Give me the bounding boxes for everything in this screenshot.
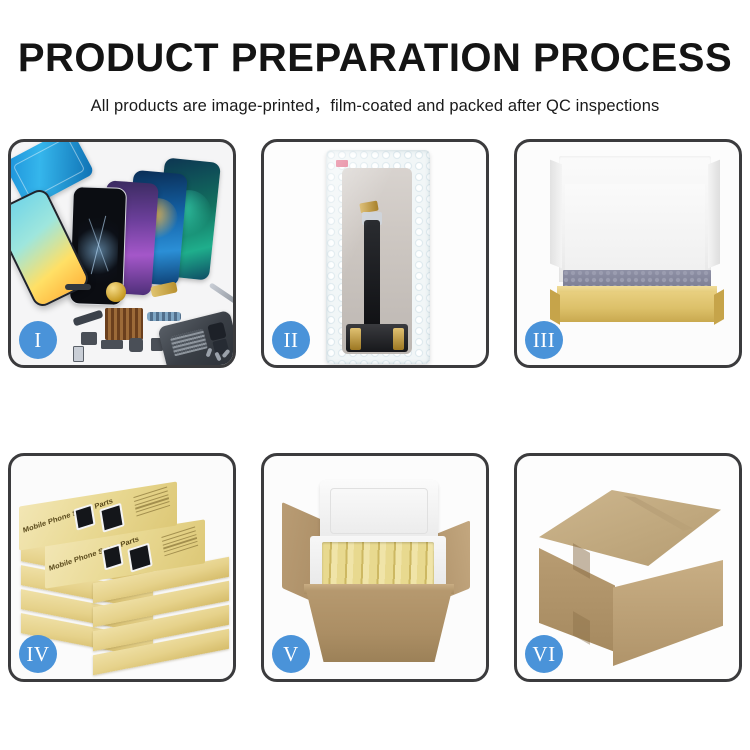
page-title: PRODUCT PREPARATION PROCESS bbox=[0, 38, 750, 78]
part-small-3 bbox=[129, 338, 143, 352]
part-small-5 bbox=[73, 346, 84, 362]
retail-boxes-inside bbox=[322, 542, 434, 590]
part-flex-cable-right bbox=[147, 312, 181, 321]
box-print-screen-b bbox=[99, 503, 124, 533]
step-badge-1: I bbox=[19, 321, 57, 359]
step-badge-3: III bbox=[525, 321, 563, 359]
part-vibrator-motor bbox=[106, 282, 126, 302]
page-subtitle: All products are image-printed，film-coat… bbox=[0, 92, 750, 116]
step-panel-3: III bbox=[514, 139, 742, 368]
part-small-2 bbox=[101, 340, 123, 349]
process-steps-grid: I II bbox=[8, 139, 742, 682]
carton-top-face bbox=[539, 490, 721, 566]
bubble-wrap-bag bbox=[326, 150, 430, 364]
part-repair-tool bbox=[209, 282, 233, 306]
carton-body bbox=[306, 590, 452, 662]
step-panel-4: Mobile Phone Spare Parts Mobile Phone Sp… bbox=[8, 453, 236, 682]
box-print-lines bbox=[161, 526, 198, 558]
product-preparation-page: PRODUCT PREPARATION PROCESS All products… bbox=[0, 0, 750, 750]
box-front-kraft bbox=[557, 292, 717, 322]
step-panel-5: V bbox=[261, 453, 489, 682]
step-panel-6: VI bbox=[514, 453, 742, 682]
part-screws bbox=[207, 348, 231, 365]
step-badge-6: VI bbox=[525, 635, 563, 673]
box-print-screen-a bbox=[101, 543, 123, 570]
step-panel-2: II bbox=[261, 139, 489, 368]
box-print-screen-b bbox=[127, 543, 152, 573]
box-print-lines bbox=[133, 487, 170, 519]
carton-right-face bbox=[613, 560, 723, 666]
step-badge-5: V bbox=[272, 635, 310, 673]
bubble-wrap-gloss bbox=[326, 150, 430, 364]
page-header: PRODUCT PREPARATION PROCESS All products… bbox=[0, 0, 750, 116]
part-flex-cable-left bbox=[72, 310, 103, 327]
part-small-1 bbox=[81, 332, 97, 345]
box-inner-wall bbox=[565, 184, 705, 278]
foam-box-lid bbox=[320, 480, 438, 542]
step-panel-1: I bbox=[8, 139, 236, 368]
part-chip-array bbox=[105, 308, 143, 340]
box-print-screen-a bbox=[73, 504, 95, 531]
step-badge-2: II bbox=[272, 321, 310, 359]
part-speaker-bar bbox=[65, 284, 91, 290]
step-badge-4: IV bbox=[19, 635, 57, 673]
